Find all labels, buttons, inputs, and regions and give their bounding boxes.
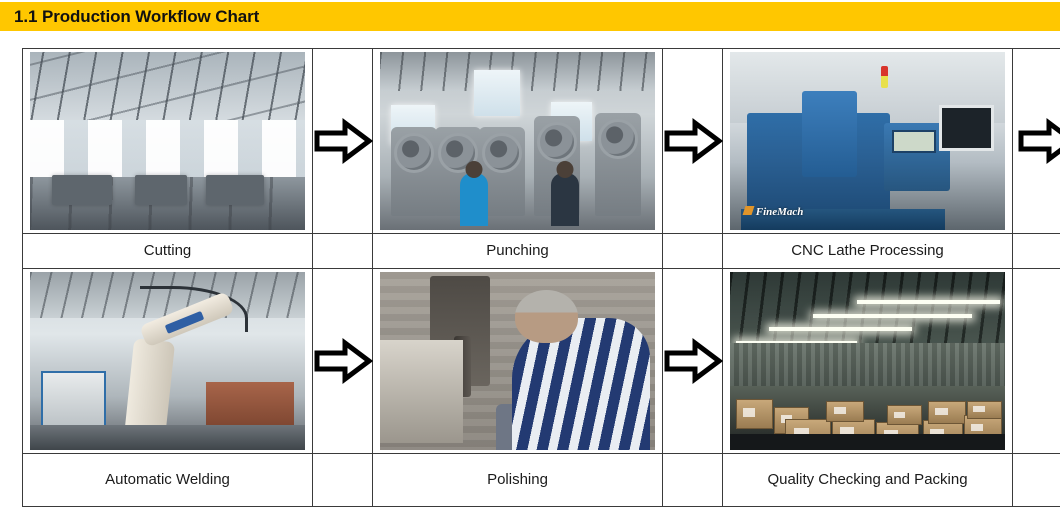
- step-cell-punching: [373, 49, 663, 234]
- caption-cell-polishing: Polishing: [373, 454, 663, 507]
- spacer-cell: [313, 234, 373, 269]
- arrow-cell-5: [663, 269, 723, 454]
- table-row: Automatic Welding Polishing Quality Chec…: [23, 454, 1060, 507]
- section-title-bar: 1.1 Production Workflow Chart: [0, 2, 1060, 31]
- step-caption: Quality Checking and Packing: [761, 467, 975, 494]
- step-cell-automatic-welding: [23, 269, 313, 454]
- step-caption: Punching: [373, 238, 662, 265]
- arrow-cell-3: [1013, 49, 1060, 234]
- table-row: FineMach: [23, 49, 1060, 234]
- photo-cutting: [30, 52, 305, 230]
- step-caption: Polishing: [373, 467, 662, 494]
- step-cell-quality-checking-packing: [723, 269, 1013, 454]
- right-arrow-icon: [663, 49, 722, 233]
- arrow-cell-1: [313, 49, 373, 234]
- production-workflow-table: FineMach Cutting Punching CNC Lathe Proc…: [22, 48, 1060, 507]
- photo-quality-checking-packing: [730, 272, 1005, 450]
- caption-cell-cutting: Cutting: [23, 234, 313, 269]
- right-arrow-icon: [1013, 49, 1060, 233]
- photo-cnc-lathe: FineMach: [730, 52, 1005, 230]
- caption-cell-punching: Punching: [373, 234, 663, 269]
- spacer-cell: [1013, 234, 1060, 269]
- step-caption: Automatic Welding: [23, 467, 312, 494]
- spacer-cell: [1013, 454, 1060, 507]
- step-cell-cnc-lathe: FineMach: [723, 49, 1013, 234]
- photo-automatic-welding: [30, 272, 305, 450]
- spacer-cell: [663, 454, 723, 507]
- step-caption: CNC Lathe Processing: [723, 238, 1012, 265]
- spacer-cell: [313, 454, 373, 507]
- arrow-cell-2: [663, 49, 723, 234]
- machine-brand-label: FineMach: [744, 206, 804, 218]
- arrow-cell-4: [313, 269, 373, 454]
- caption-cell-automatic-welding: Automatic Welding: [23, 454, 313, 507]
- spacer-cell: [1013, 269, 1060, 454]
- photo-polishing: [380, 272, 655, 450]
- page-title: 1.1 Production Workflow Chart: [14, 7, 259, 27]
- photo-punching: [380, 52, 655, 230]
- caption-cell-cnc-lathe: CNC Lathe Processing: [723, 234, 1013, 269]
- caption-cell-quality-checking-packing: Quality Checking and Packing: [723, 454, 1013, 507]
- spacer-cell: [663, 234, 723, 269]
- step-cell-cutting: [23, 49, 313, 234]
- right-arrow-icon: [313, 49, 372, 233]
- right-arrow-icon: [663, 269, 722, 453]
- right-arrow-icon: [313, 269, 372, 453]
- step-caption: Cutting: [23, 238, 312, 265]
- step-cell-polishing: [373, 269, 663, 454]
- table-row: Cutting Punching CNC Lathe Processing: [23, 234, 1060, 269]
- table-row: [23, 269, 1060, 454]
